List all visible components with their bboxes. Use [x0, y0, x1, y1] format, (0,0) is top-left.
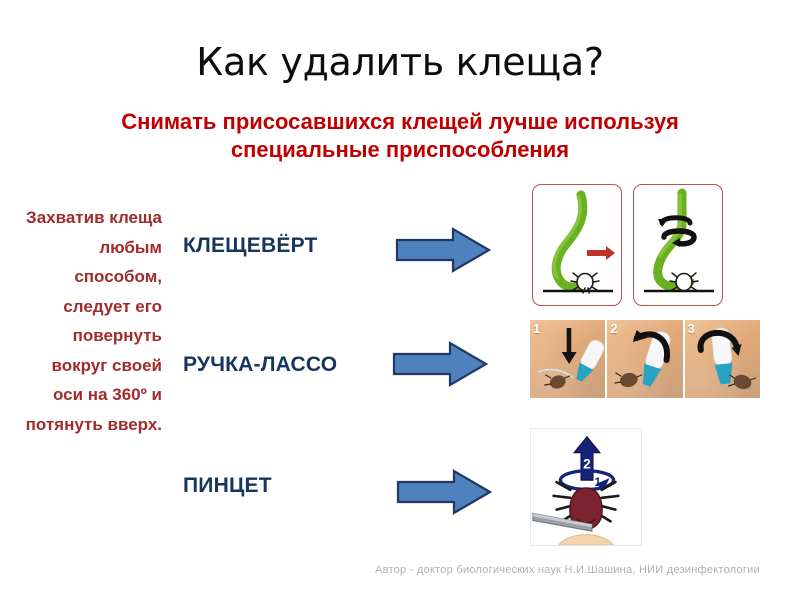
- page-title: Как удалить клеща?: [0, 40, 800, 84]
- arrow-right-icon: [396, 468, 492, 516]
- klechevert-panel-2: [633, 184, 723, 306]
- footer-credit: Автор - доктор биологических наук Н.И.Ша…: [340, 564, 795, 576]
- method-label-klechevert: КЛЕЩЕВЁРТ: [183, 234, 318, 258]
- pincet-step-turn-label: 1: [595, 476, 602, 489]
- klechevert-panel-1: [532, 184, 622, 306]
- subtitle-line-2: специальные приспособления: [45, 136, 755, 164]
- arrow-right-icon: [395, 226, 491, 274]
- slide-subtitle: Снимать присосавшихся клещей лучше испол…: [45, 108, 755, 164]
- panel-number: 1: [533, 321, 540, 336]
- figure-ruchka-lasso: 1 2: [530, 320, 760, 398]
- red-straight-arrow-icon: [587, 246, 615, 260]
- ruchka-panel-3: 3: [685, 320, 760, 398]
- up-arrow-icon: 2: [574, 437, 600, 480]
- tick-icon: [670, 273, 698, 291]
- tick-icon: [728, 373, 755, 391]
- tick-icon: [615, 371, 642, 389]
- panel-number: 2: [610, 321, 617, 336]
- ruchka-panel-2: 2: [607, 320, 682, 398]
- left-instruction-text: Захватив клеща любым способом, следует е…: [22, 203, 162, 439]
- figure-klechevert: [530, 184, 730, 308]
- subtitle-line-1: Снимать присосавшихся клещей лучше испол…: [45, 108, 755, 136]
- panel-number: 3: [688, 321, 695, 336]
- pincet-step-up-label: 2: [583, 456, 591, 471]
- klechevert-illustration-pull: [533, 185, 622, 306]
- figure-pincet: 2 1: [530, 428, 642, 546]
- ruchka-panel-1: 1: [530, 320, 605, 398]
- lasso-pen-icon: [572, 338, 605, 384]
- pincet-illustration: 2 1: [531, 429, 641, 545]
- black-rotation-arrow-icon: [658, 218, 694, 247]
- tick-icon: [545, 373, 570, 390]
- method-label-ruchka-lasso: РУЧКА-ЛАССО: [183, 353, 337, 377]
- ruchka-illustration-step3: [685, 320, 760, 398]
- down-arrow-icon: [562, 328, 577, 364]
- ruchka-illustration-step2: [607, 320, 682, 398]
- ruchka-illustration-step1: [530, 320, 605, 398]
- klechevert-illustration-twist: [634, 185, 723, 306]
- arrow-right-icon: [392, 340, 488, 388]
- method-label-pincet: ПИНЦЕТ: [183, 474, 272, 498]
